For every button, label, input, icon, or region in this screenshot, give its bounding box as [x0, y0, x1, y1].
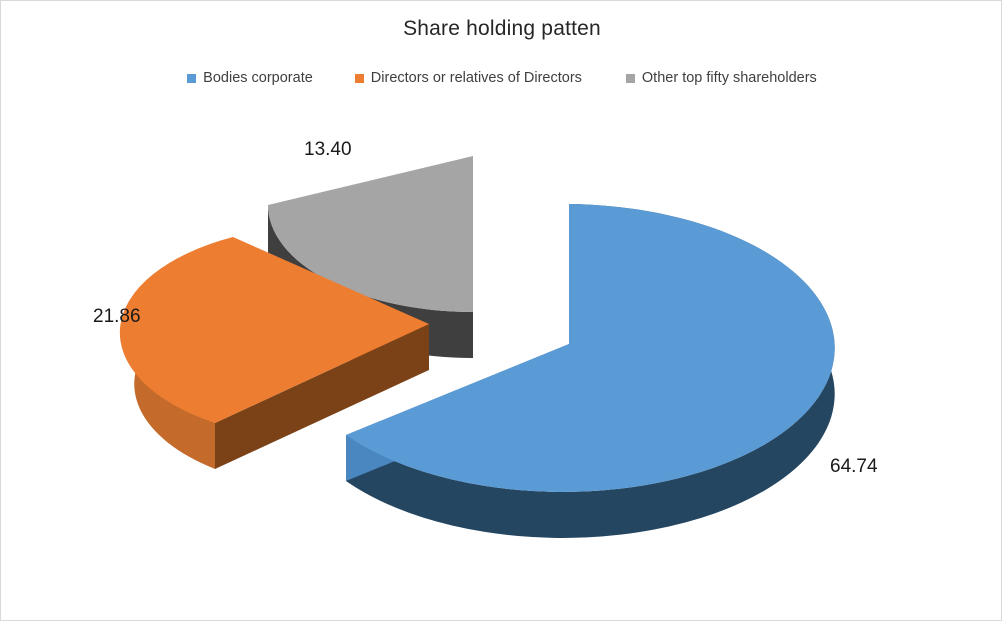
pie-chart-graphic — [1, 1, 1002, 621]
data-label-directors: 21.86 — [93, 306, 141, 328]
chart-container: Share holding patten Bodies corporate Di… — [0, 0, 1002, 621]
data-label-bodies-corporate: 64.74 — [830, 456, 878, 478]
data-label-other-shareholders: 13.40 — [304, 139, 352, 161]
